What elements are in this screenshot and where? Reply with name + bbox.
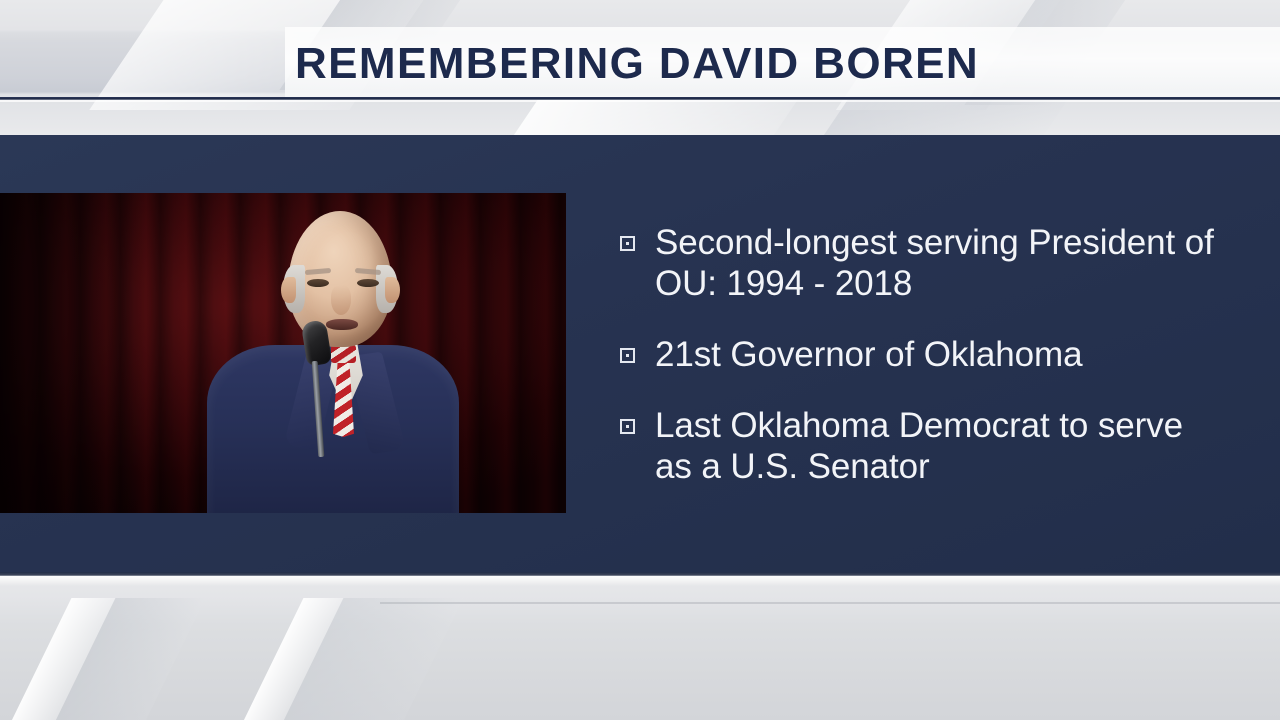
subject-mouth: [326, 319, 358, 330]
lower-zone-highlight: [0, 576, 1280, 586]
lower-diagonal-stripe-1: [0, 598, 115, 720]
list-item: Second-longest serving President of OU: …: [620, 222, 1240, 304]
broadcast-graphic: REMEMBERING DAVID BOREN: [0, 0, 1280, 720]
square-dot-bullet-icon: [620, 419, 635, 434]
subject-eye-left: [307, 279, 329, 287]
lower-zone-seam: [380, 602, 1280, 604]
lower-diagonal-stripe-4: [261, 598, 464, 720]
header-divider-highlight: [0, 100, 1280, 102]
list-item: Last Oklahoma Democrat to serve as a U.S…: [620, 405, 1240, 487]
subject-eye-right: [357, 279, 379, 287]
subject-ear-right: [385, 277, 400, 303]
square-dot-bullet-icon: [620, 236, 635, 251]
list-item-label: Second-longest serving President of OU: …: [655, 222, 1215, 304]
lower-diagonal-stripe-2: [33, 598, 206, 720]
page-title: REMEMBERING DAVID BOREN: [295, 36, 1275, 92]
lower-diagonal-stripe-3: [221, 598, 344, 720]
list-item-label: Last Oklahoma Democrat to serve as a U.S…: [655, 405, 1215, 487]
square-dot-bullet-icon: [620, 348, 635, 363]
lower-zone: [0, 576, 1280, 720]
subject-ear-left: [281, 277, 296, 303]
list-item-label: 21st Governor of Oklahoma: [655, 334, 1082, 375]
subject-nose: [331, 285, 351, 315]
subject-tie-knot: [331, 345, 356, 363]
photo-curtain-shadow: [0, 193, 150, 513]
list-item: 21st Governor of Oklahoma: [620, 334, 1240, 375]
subject-photo: [0, 193, 566, 513]
fact-list: Second-longest serving President of OU: …: [620, 222, 1240, 487]
